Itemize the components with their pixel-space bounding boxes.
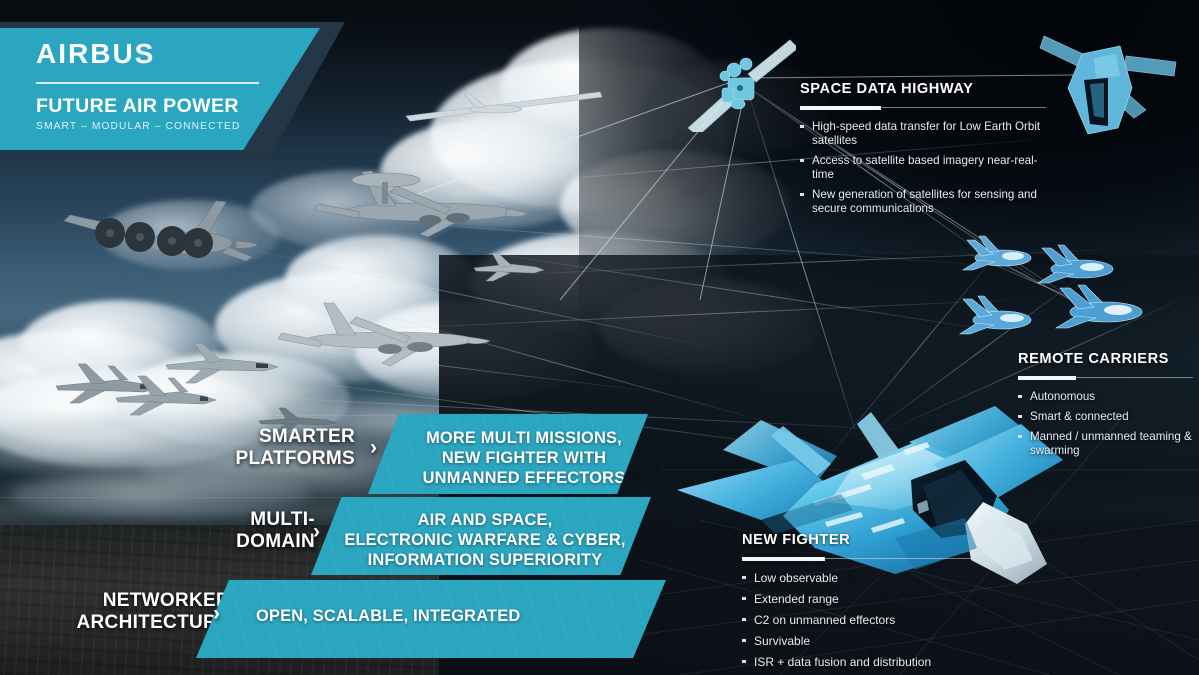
- header-divider: [36, 82, 259, 84]
- chevron-right-icon: ›: [213, 603, 220, 624]
- space-data-highway-title: SPACE DATA HIGHWAY: [800, 82, 1046, 97]
- pillar-banner-text: MORE MULTI MISSIONS, NEW FIGHTER WITH UN…: [404, 428, 644, 488]
- remote-carriers-title: REMOTE CARRIERS: [1018, 352, 1193, 367]
- ucav-aircraft: [160, 335, 290, 390]
- title-rule: [1018, 376, 1193, 380]
- new-fighter-bullets: Low observable Extended range C2 on unma…: [742, 571, 992, 669]
- new-fighter-block: NEW FIGHTER Low observable Extended rang…: [742, 533, 992, 675]
- page-subtitle: SMART – MODULAR – CONNECTED: [36, 122, 296, 132]
- title-rule: [800, 106, 1046, 110]
- pillar-banner-networked-architecture: OPEN, SCALABLE, INTEGRATED: [196, 580, 666, 658]
- pillar-networked-architecture: NETWORKED ARCHITECTURE: [40, 590, 230, 640]
- new-fighter-title: NEW FIGHTER: [742, 533, 992, 548]
- pillar-label: SMARTER PLATFORMS: [235, 426, 355, 470]
- geo-satellite-left: [686, 36, 796, 132]
- infographic-canvas: AIRBUS FUTURE AIR POWER SMART – MODULAR …: [0, 0, 1199, 675]
- space-data-highway-bullets: High-speed data transfer for Low Earth O…: [800, 120, 1046, 216]
- pillar-banner-text: OPEN, SCALABLE, INTEGRATED: [256, 606, 636, 626]
- chevron-right-icon: ›: [313, 521, 320, 542]
- ucav-aircraft: [470, 248, 550, 286]
- pillar-banner-smarter-platforms: MORE MULTI MISSIONS, NEW FIGHTER WITH UN…: [368, 414, 648, 494]
- pillar-multi-domain: MULTI- DOMAIN: [140, 509, 315, 559]
- list-item: Autonomous: [1018, 390, 1193, 404]
- remote-carriers-block: REMOTE CARRIERS Autonomous Smart & conne…: [1018, 352, 1193, 464]
- pillar-smarter-platforms: SMARTER PLATFORMS: [180, 426, 355, 476]
- list-item: Low observable: [742, 571, 992, 585]
- awacs-surveillance-aircraft: [300, 162, 540, 247]
- chevron-right-icon: ›: [370, 437, 377, 458]
- high-altitude-uav: [400, 82, 610, 132]
- remote-carriers-bullets: Autonomous Smart & connected Manned / un…: [1018, 390, 1193, 458]
- list-item: Extended range: [742, 592, 992, 606]
- pillar-banner-multi-domain: AIR AND SPACE, ELECTRONIC WARFARE & CYBE…: [311, 497, 651, 575]
- a400m-transport-aircraft: [40, 185, 270, 275]
- a330-mrtt-tanker-aircraft: [270, 295, 500, 375]
- list-item: High-speed data transfer for Low Earth O…: [800, 120, 1046, 148]
- list-item: Manned / unmanned teaming & swarming: [1018, 430, 1193, 458]
- list-item: C2 on unmanned effectors: [742, 613, 992, 627]
- pillar-label: MULTI- DOMAIN: [236, 509, 315, 553]
- remote-carrier-drone: [952, 292, 1044, 338]
- satellite-right: [1034, 18, 1184, 143]
- page-title: FUTURE AIR POWER: [36, 97, 296, 117]
- list-item: Survivable: [742, 634, 992, 648]
- pillar-banner-text: AIR AND SPACE, ELECTRONIC WARFARE & CYBE…: [339, 510, 631, 570]
- remote-carrier-drone: [1048, 282, 1156, 334]
- title-rule: [742, 557, 992, 561]
- airbus-logo: AIRBUS: [36, 40, 296, 68]
- space-data-highway-block: SPACE DATA HIGHWAY High-speed data trans…: [800, 82, 1046, 222]
- list-item: New generation of satellites for sensing…: [800, 188, 1046, 216]
- list-item: ISR + data fusion and distribution: [742, 655, 992, 669]
- list-item: Access to satellite based imagery near-r…: [800, 154, 1046, 182]
- pillar-label: NETWORKED ARCHITECTURE: [77, 590, 231, 634]
- list-item: Smart & connected: [1018, 410, 1193, 424]
